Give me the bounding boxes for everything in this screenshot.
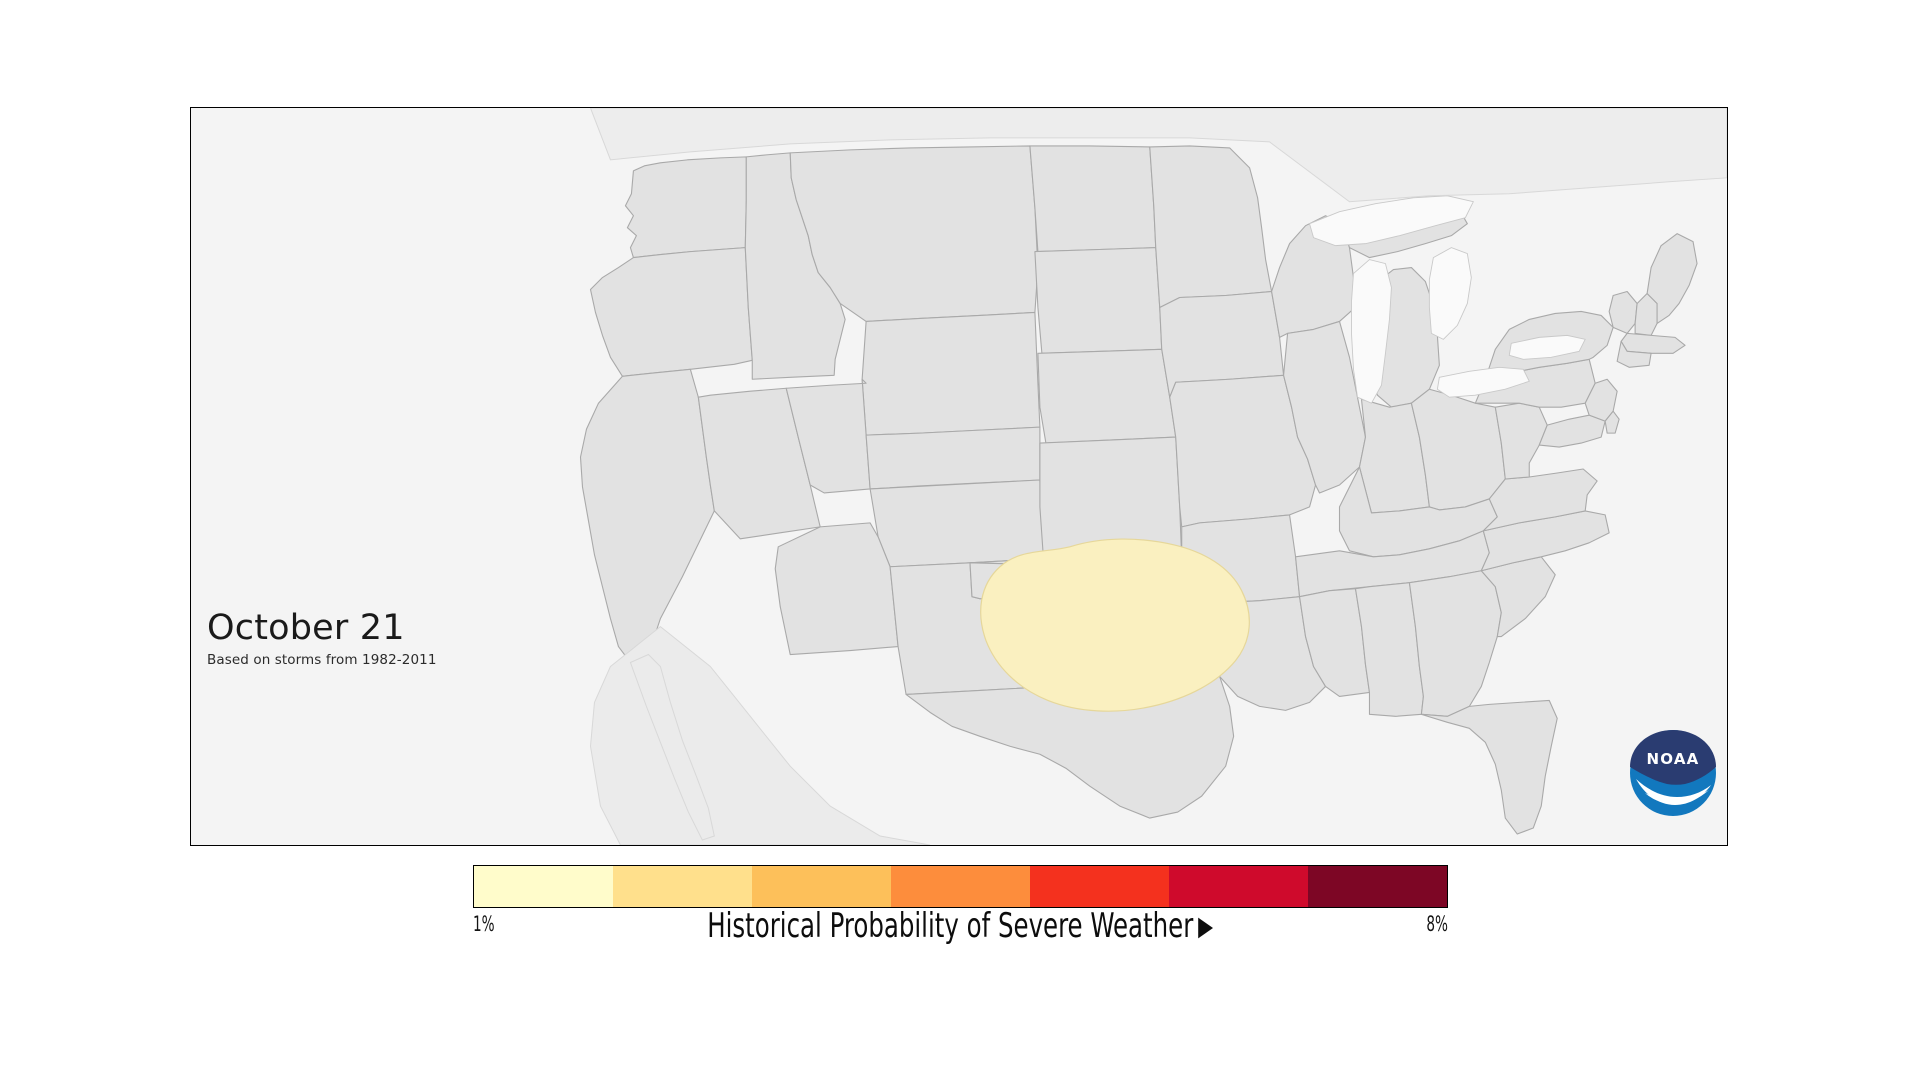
map-title-block: October 21 Based on storms from 1982-201… — [207, 611, 437, 668]
colorbar-max-label: 8% — [1426, 912, 1448, 936]
state-oregon — [590, 248, 752, 377]
state-colorado — [866, 427, 1040, 489]
map-panel: .land { fill:#e2e2e2; stroke:#a9a9a9; st… — [190, 107, 1728, 846]
state-wyoming — [862, 312, 1040, 435]
noaa-logo-text: NOAA — [1647, 750, 1700, 768]
us-map: .land { fill:#e2e2e2; stroke:#a9a9a9; st… — [191, 108, 1727, 845]
colorbar-caption: Historical Probability of Severe Weather… — [473, 906, 1448, 946]
colorbar-band-6 — [1169, 866, 1308, 907]
state-minnesota — [1150, 146, 1272, 308]
state-washington — [625, 157, 746, 258]
colorbar-band-1 — [474, 866, 613, 907]
state-nebraska — [1038, 349, 1176, 443]
state-north-dakota — [1030, 146, 1156, 252]
state-massachusetts — [1621, 333, 1685, 353]
state-vermont — [1609, 292, 1637, 334]
noaa-logo: NOAA — [1623, 723, 1723, 823]
state-florida — [1421, 700, 1557, 834]
lake-huron — [1429, 248, 1471, 340]
state-arizona — [775, 523, 898, 655]
colorbar-band-7 — [1308, 866, 1447, 907]
colorbar-band-5 — [1030, 866, 1169, 907]
colorbar-labels: 1% Historical Probability of Severe Weat… — [473, 912, 1448, 946]
play-arrow-icon[interactable]: ▶ — [1198, 913, 1213, 940]
state-maryland — [1539, 415, 1605, 447]
colorbar-band-4 — [891, 866, 1030, 907]
colorbar-gradient — [473, 865, 1448, 908]
noaa-logo-icon: NOAA — [1623, 723, 1723, 823]
state-south-dakota — [1035, 248, 1162, 354]
state-california — [580, 369, 714, 662]
state-georgia — [1409, 571, 1501, 717]
colorbar-band-3 — [752, 866, 891, 907]
colorbar-band-2 — [613, 866, 752, 907]
page-title: October 21 — [207, 611, 437, 646]
colorbar-legend: 1% Historical Probability of Severe Weat… — [473, 865, 1448, 946]
map-subtitle: Based on storms from 1982-2011 — [207, 652, 437, 668]
state-colorado-south — [870, 480, 1044, 567]
colorbar-caption-text: Historical Probability of Severe Weather — [708, 906, 1194, 946]
